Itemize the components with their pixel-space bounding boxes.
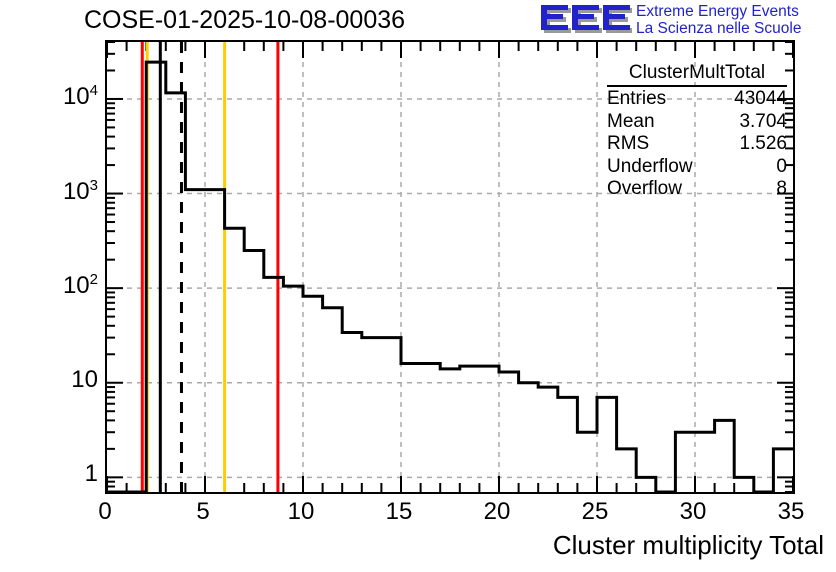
stats-rows: Entries43044Mean3.704RMS1.526Underflow0O… bbox=[607, 88, 787, 201]
y-tick-label: 10 bbox=[71, 366, 98, 394]
y-tick-label: 104 bbox=[63, 82, 98, 111]
stats-box: ClusterMultTotal Entries43044Mean3.704RM… bbox=[607, 62, 787, 201]
y-tick-label: 1 bbox=[85, 460, 98, 488]
logo-line-1: Extreme Energy Events bbox=[636, 3, 801, 20]
x-tick-label: 30 bbox=[680, 498, 707, 526]
x-tick-label: 25 bbox=[582, 498, 609, 526]
x-tick-label: 15 bbox=[386, 498, 413, 526]
stats-row-value: 1.526 bbox=[739, 133, 787, 156]
stats-row-key: Mean bbox=[607, 111, 655, 134]
x-tick-label: 5 bbox=[196, 498, 209, 526]
x-tick-label: 10 bbox=[288, 498, 315, 526]
marker-lines bbox=[142, 42, 278, 492]
stats-row-key: Underflow bbox=[607, 156, 693, 179]
x-axis-title: Cluster multiplicity Total bbox=[553, 530, 824, 561]
stats-row-value: 3.704 bbox=[739, 111, 787, 134]
stats-row-key: Overflow bbox=[607, 178, 682, 201]
x-tick-label: 0 bbox=[98, 498, 111, 526]
eee-logo: Extreme Energy Events La Scienza nelle S… bbox=[540, 2, 834, 42]
stats-row-key: Entries bbox=[607, 88, 666, 111]
x-tick-label: 20 bbox=[484, 498, 511, 526]
stats-title: ClusterMultTotal bbox=[607, 62, 787, 87]
stats-row: Entries43044 bbox=[607, 88, 787, 111]
x-tick-label: 35 bbox=[778, 498, 805, 526]
page-title: COSE-01-2025-10-08-00036 bbox=[84, 6, 405, 35]
logo-text-block: Extreme Energy Events La Scienza nelle S… bbox=[636, 3, 801, 37]
stats-row-value: 0 bbox=[776, 156, 787, 179]
stats-row: Overflow8 bbox=[607, 178, 787, 201]
stats-row-key: RMS bbox=[607, 133, 649, 156]
stats-row: Mean3.704 bbox=[607, 111, 787, 134]
logo-line-2: La Scienza nelle Scuole bbox=[636, 20, 801, 37]
stats-row-value: 8 bbox=[776, 178, 787, 201]
y-tick-label: 103 bbox=[63, 177, 98, 206]
stats-row-value: 43044 bbox=[734, 88, 787, 111]
stats-row: Underflow0 bbox=[607, 156, 787, 179]
eee-mark-icon bbox=[540, 2, 632, 38]
stats-row: RMS1.526 bbox=[607, 133, 787, 156]
root-canvas: COSE-01-2025-10-08-00036 Extreme Ene bbox=[0, 0, 836, 572]
y-tick-label: 102 bbox=[63, 271, 98, 300]
